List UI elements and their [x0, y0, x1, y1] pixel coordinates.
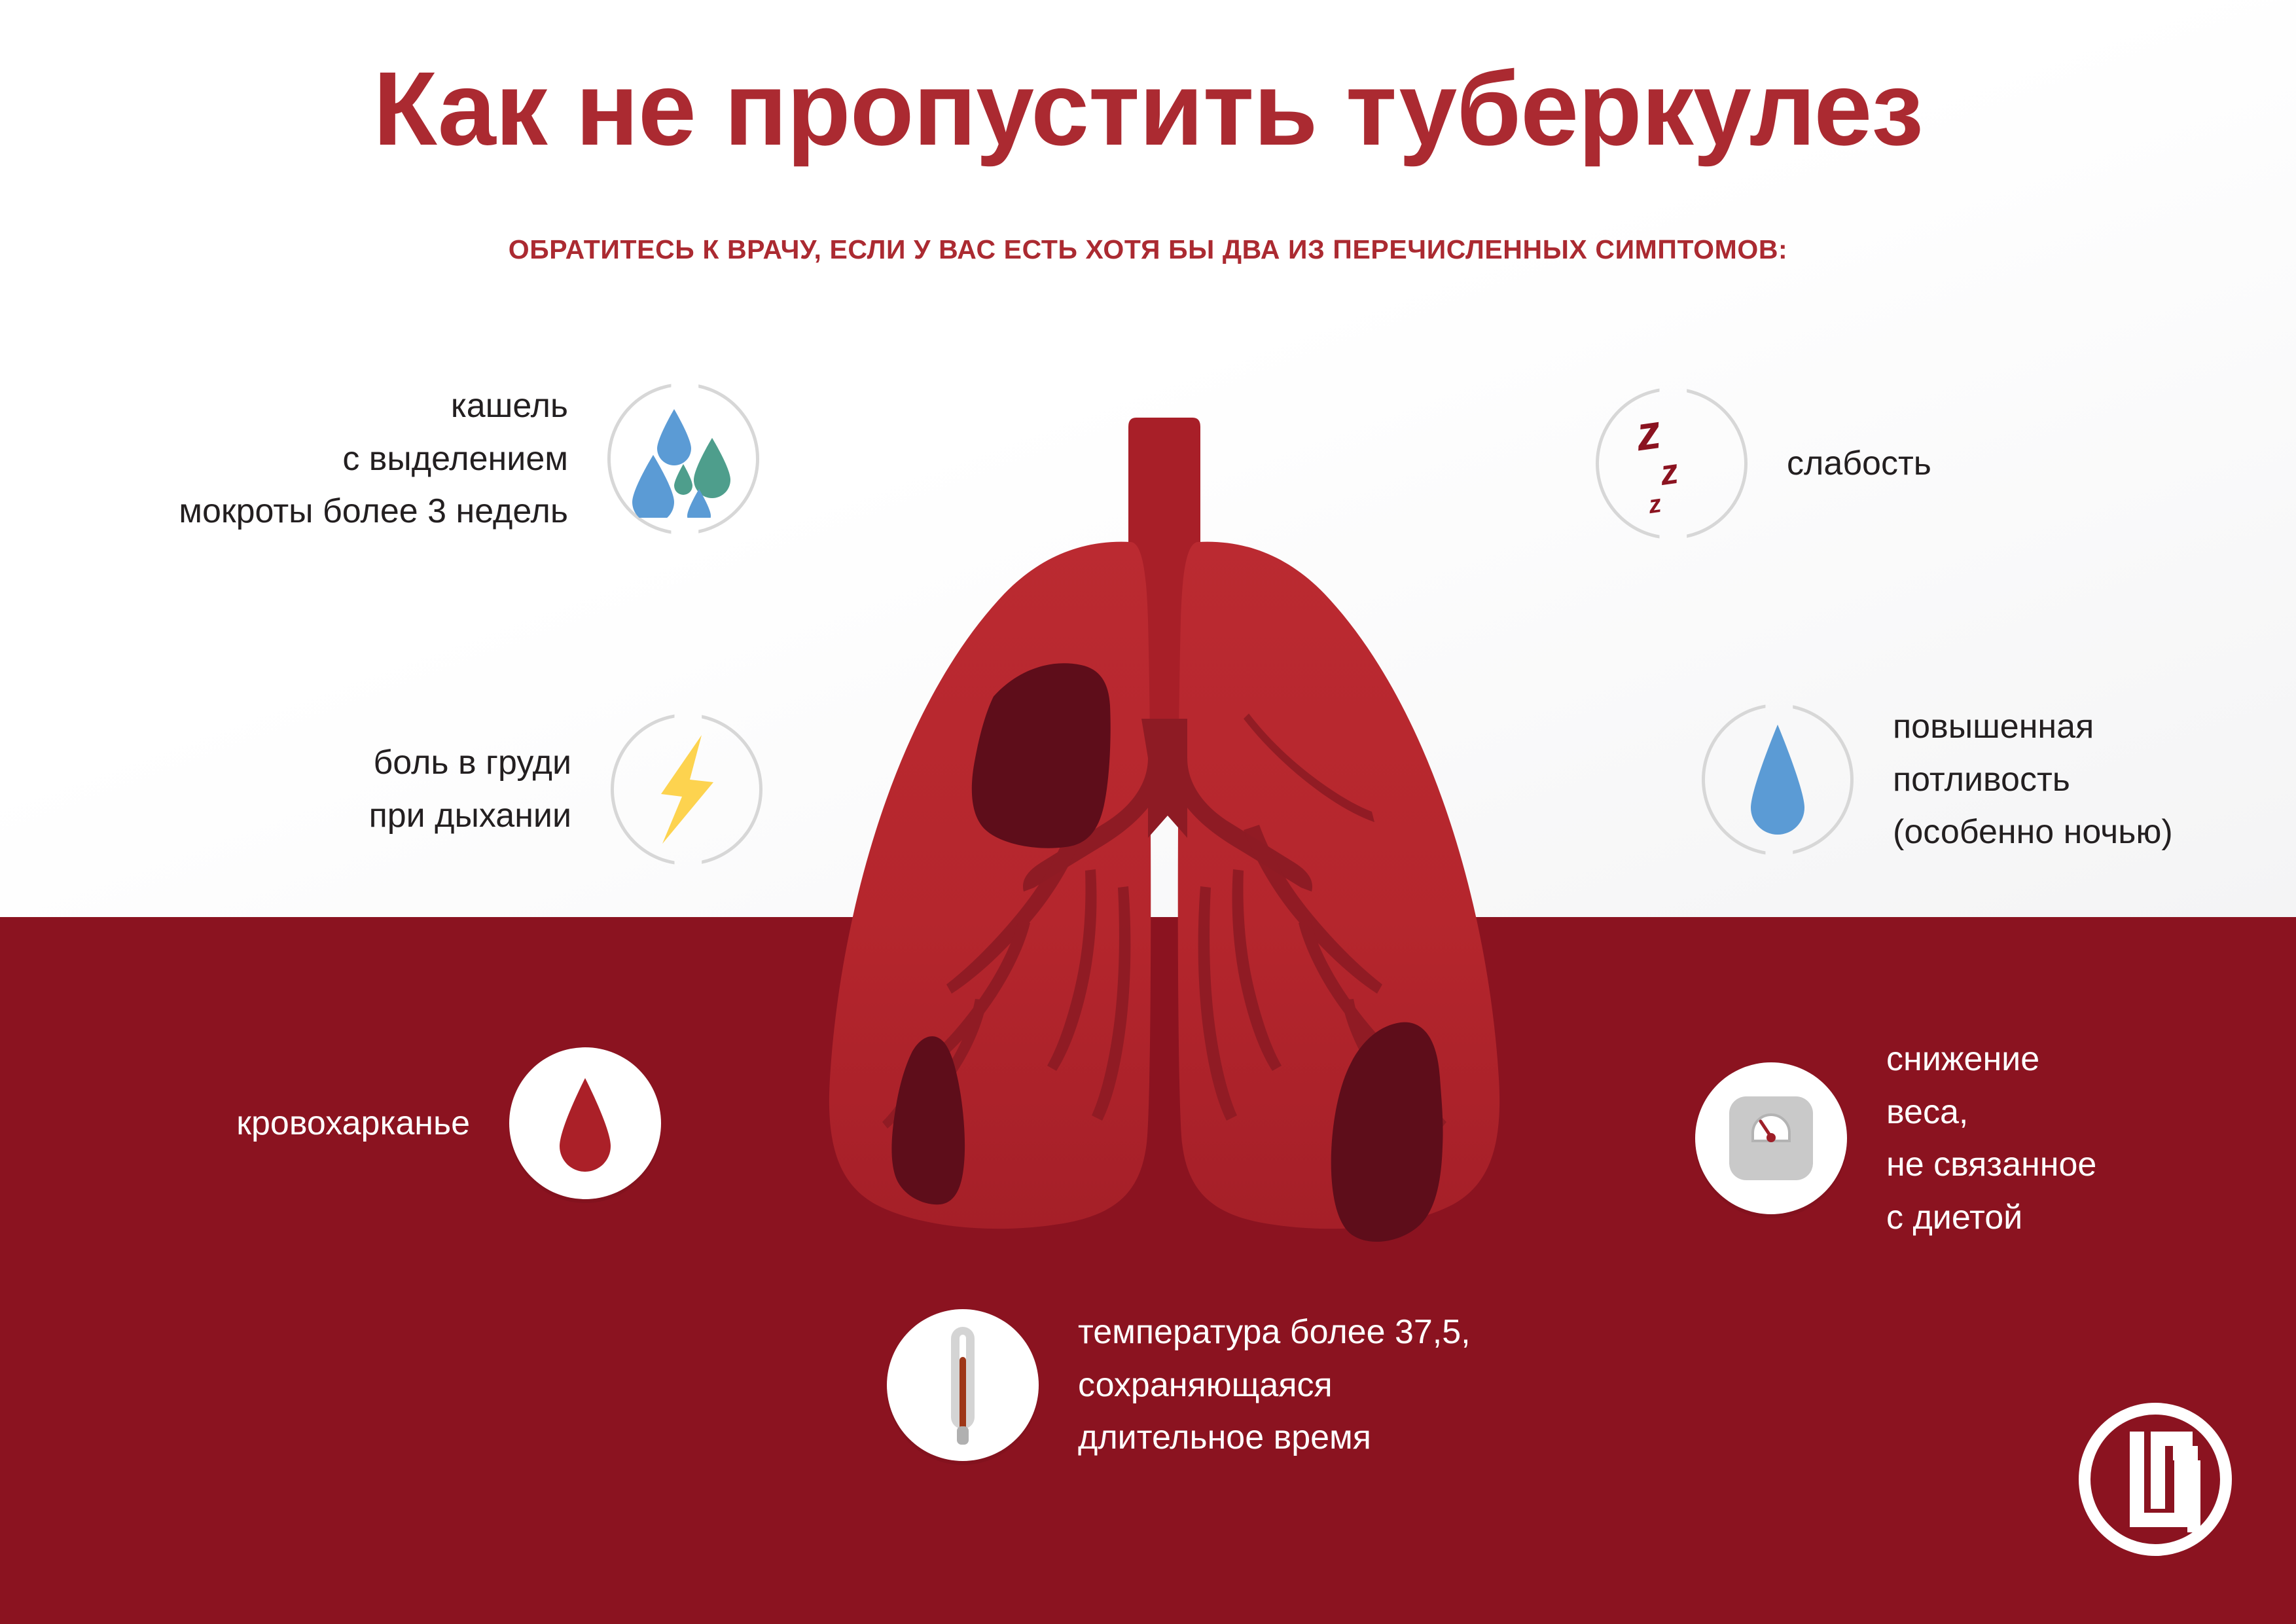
symptom-weakness: z z z слабость — [1596, 388, 2185, 539]
symptom-sweating-label: повышенная потливость (особенно ночью) — [1893, 700, 2296, 859]
circular-monogram-logo — [2073, 1398, 2237, 1561]
left-lung — [829, 542, 1151, 1229]
symptom-weakness-icon-ring: z z z — [1596, 388, 1748, 539]
lightning-bolt-icon — [651, 734, 723, 845]
svg-text:z: z — [1646, 490, 1663, 519]
blood-drop-icon — [549, 1074, 621, 1172]
weight-scale-icon — [1725, 1092, 1817, 1184]
symptom-chest-pain: боль в груди при дыхании — [173, 713, 762, 865]
symptom-weight-loss: снижение веса, не связанное с диетой — [1695, 1033, 2296, 1244]
symptom-hemoptysis-icon-disc — [509, 1047, 661, 1199]
infographic-poster: кашель с выделением мокроты более 3 неде… — [0, 0, 2296, 1624]
symptom-weight-loss-label: снижение веса, не связанное с диетой — [1886, 1033, 2296, 1244]
symptom-sweating-icon-ring — [1702, 704, 1854, 856]
symptom-chest-pain-label: боль в груди при дыхании — [173, 736, 571, 842]
symptom-fever-icon-disc — [887, 1309, 1039, 1461]
droplets-icon — [631, 400, 736, 518]
page-title: Как не пропустить туберкулез — [0, 54, 2296, 164]
symptom-cough: кашель с выделением мокроты более 3 неде… — [118, 380, 759, 538]
symptom-fever-label: температура более 37,5, сохраняющаяся дл… — [1078, 1306, 1672, 1464]
thermometer-icon — [937, 1323, 989, 1447]
lungs-illustration — [778, 411, 1550, 1242]
sweat-drop-icon — [1742, 721, 1814, 839]
svg-text:z: z — [1657, 452, 1681, 493]
symptom-sweating: повышенная потливость (особенно ночью) — [1702, 700, 2296, 859]
sleep-zzz-icon: z z z — [1623, 408, 1721, 519]
symptom-fever: температура более 37,5, сохраняющаяся дл… — [887, 1306, 1672, 1464]
symptom-hemoptysis: кровохарканье — [164, 1047, 661, 1199]
symptom-hemoptysis-label: кровохарканье — [164, 1097, 470, 1150]
symptom-weight-loss-icon-disc — [1695, 1062, 1847, 1214]
page-subtitle: ОБРАТИТЕСЬ К ВРАЧУ, ЕСЛИ У ВАС ЕСТЬ ХОТЯ… — [0, 234, 2296, 265]
symptom-weakness-label: слабость — [1787, 437, 2185, 490]
symptom-chest-pain-icon-ring — [611, 713, 762, 865]
symptom-cough-icon-ring — [607, 383, 759, 535]
symptom-cough-label: кашель с выделением мокроты более 3 неде… — [118, 380, 568, 538]
